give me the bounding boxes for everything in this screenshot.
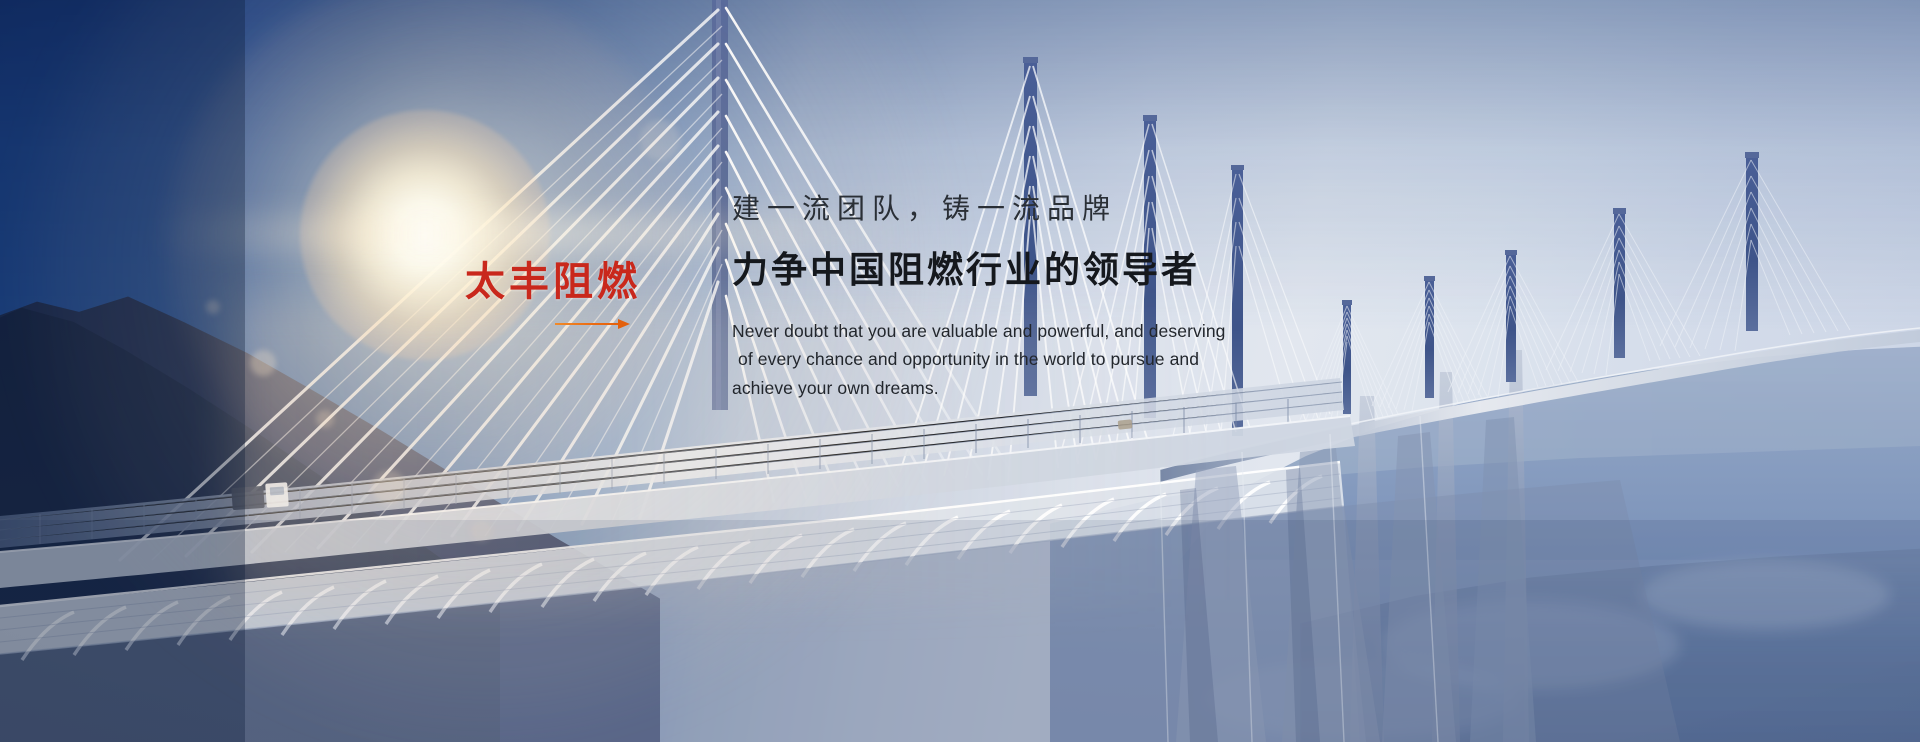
description-line-3: achieve your own dreams. (732, 374, 1312, 402)
headline-block: 建一流团队，铸一流品牌 力争中国阻燃行业的领导者 Never doubt tha… (732, 192, 1312, 402)
headline-chinese: 力争中国阻燃行业的领导者 (732, 250, 1312, 291)
subtitle-chinese: 建一流团队，铸一流品牌 (732, 192, 1312, 226)
description-english: Never doubt that you are valuable and po… (732, 317, 1312, 402)
brand-logo[interactable]: 太丰阻燃 (465, 262, 665, 330)
hero-banner: 太丰阻燃 建一流团队，铸一流品牌 力争中国阻燃行业的领导者 Never doub… (0, 0, 1920, 742)
arrow-head (618, 319, 630, 329)
banner-content: 太丰阻燃 建一流团队，铸一流品牌 力争中国阻燃行业的领导者 Never doub… (0, 0, 1920, 742)
brand-logo-text: 太丰阻燃 (465, 262, 665, 302)
description-line-2: of every chance and opportunity in the w… (732, 345, 1312, 373)
arrow-right-icon (555, 318, 630, 330)
arrow-shaft (555, 323, 621, 325)
description-line-1: Never doubt that you are valuable and po… (732, 317, 1312, 345)
